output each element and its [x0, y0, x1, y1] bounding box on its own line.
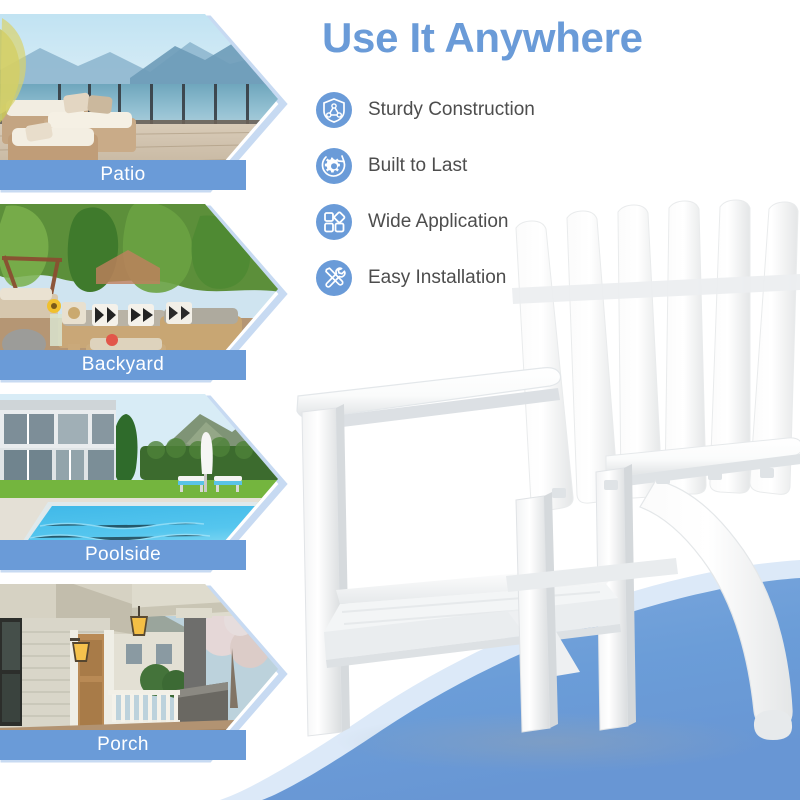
- chair-front-leg-left: [302, 404, 350, 736]
- chair-back-crossbar: [512, 274, 800, 304]
- gear-icon: [316, 148, 352, 184]
- thumbnail-porch[interactable]: Porch: [0, 578, 290, 760]
- chair-rear-post: [516, 492, 558, 732]
- thumbnail-backyard[interactable]: Backyard: [0, 198, 290, 380]
- feature-label: Sturdy Construction: [368, 99, 535, 121]
- product-image-adirondack-chair: [280, 180, 800, 780]
- thumbnail-patio[interactable]: Patio: [0, 8, 290, 190]
- page-title: Use It Anywhere: [322, 14, 643, 62]
- thumbnail-image-backyard: [0, 198, 290, 382]
- product-feature-banner: Patio: [0, 0, 800, 800]
- feature-item-sturdy-construction[interactable]: Sturdy Construction: [316, 82, 616, 138]
- feature-label: Built to Last: [368, 155, 467, 177]
- thumbnail-image-porch: [0, 578, 290, 760]
- thumbnail-poolside[interactable]: Poolside: [0, 388, 290, 570]
- shield-icon: [316, 92, 352, 128]
- thumbnail-image-poolside: [0, 388, 290, 570]
- scene-thumbnail-list: Patio: [0, 0, 290, 800]
- thumbnail-image-patio: [0, 8, 290, 190]
- poolside-house: [0, 400, 116, 484]
- chair-rear-curved-leg: [640, 480, 792, 740]
